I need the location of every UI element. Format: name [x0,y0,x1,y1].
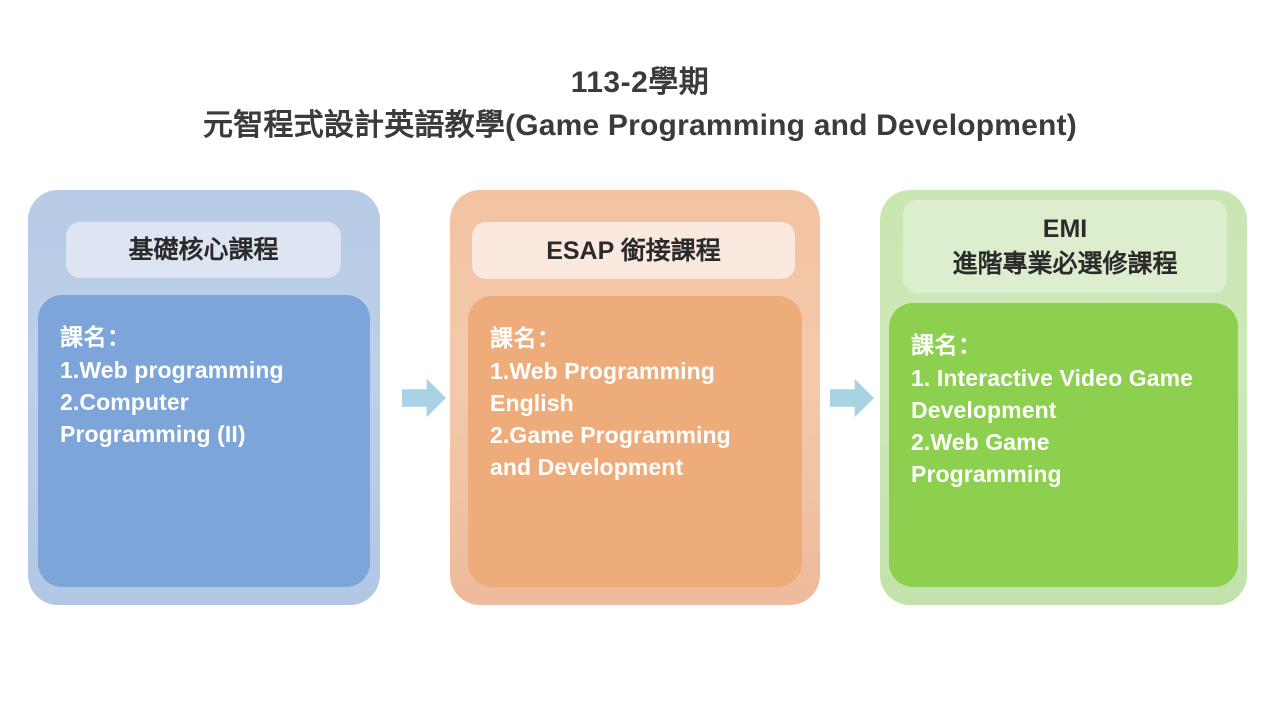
stage-header-foundation: 基礎核心課程 [66,222,341,278]
course-list: 1.Web Programming English 2.Game Program… [490,355,784,483]
list-item: 2.Web Game Programming [911,426,1220,490]
stage-header-emi: EMI 進階專業必選修課程 [903,200,1227,293]
list-item: 2.Computer Programming (II) [60,386,352,450]
course-list-label: 課名： [911,329,1220,361]
stage-header-line: 進階專業必選修課程 [952,247,1177,281]
list-item: 2.Game Programming and Development [490,419,784,483]
stage-header-line: ESAP 銜接課程 [546,234,721,268]
list-item: 1.Web programming [60,354,352,386]
list-item: 1. Interactive Video Game Development [911,362,1220,426]
title-semester: 113-2學期 [0,62,1280,104]
course-list: 1. Interactive Video Game Development 2.… [911,362,1220,490]
stage-header-line: EMI [1043,212,1087,246]
title-subject: 元智程式設計英語教學(Game Programming and Developm… [0,104,1280,148]
slide-canvas: 113-2學期 元智程式設計英語教學(Game Programming and … [0,0,1280,720]
stage-panel-esap[interactable]: ESAP 銜接課程 課名： 1.Web Programming English … [450,190,820,605]
stage-header-line: 基礎核心課程 [128,233,278,267]
page-title: 113-2學期 元智程式設計英語教學(Game Programming and … [0,62,1280,148]
arrow-right-icon [402,378,446,418]
arrow-right-icon [830,378,874,418]
stage-panel-emi[interactable]: EMI 進階專業必選修課程 課名： 1. Interactive Video G… [880,190,1247,605]
stage-body-emi: 課名： 1. Interactive Video Game Developmen… [889,303,1238,587]
stage-header-esap: ESAP 銜接課程 [472,222,795,279]
stage-body-esap: 課名： 1.Web Programming English 2.Game Pro… [468,296,802,587]
stage-panel-foundation[interactable]: 基礎核心課程 課名： 1.Web programming 2.Computer … [28,190,380,605]
list-item: 1.Web Programming English [490,355,784,419]
course-list-label: 課名： [490,322,784,354]
stage-body-foundation: 課名： 1.Web programming 2.Computer Program… [38,295,370,587]
course-list-label: 課名： [60,321,352,353]
course-list: 1.Web programming 2.Computer Programming… [60,354,352,450]
